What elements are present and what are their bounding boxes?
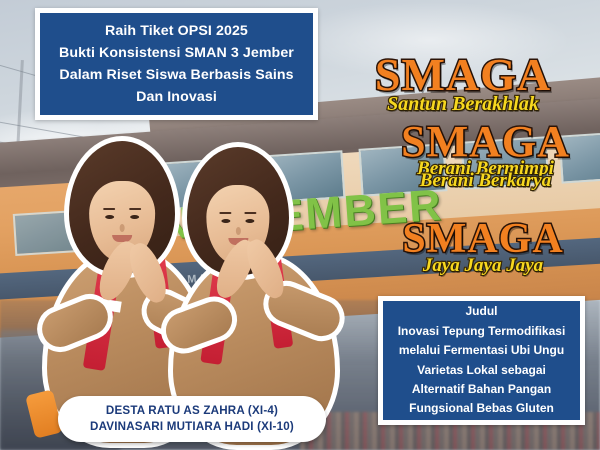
eye [245, 219, 254, 223]
slogan-tagline-1-line-1: Santun Berakhlak [333, 93, 593, 116]
student-names-pill: DESTA RATU AS ZAHRA (XI-4) DAVINASARI MU… [58, 396, 326, 442]
judul-line-2: melalui Fermentasi Ubi Ungu [398, 341, 566, 360]
mouth [112, 235, 132, 242]
eye [130, 215, 139, 219]
slogan-block-3: SMAGA Jaya Jaya Jaya [372, 215, 594, 277]
headline-line-3: Dalam Riset Siswa Berbasis Sains [59, 64, 294, 86]
judul-label: Judul [398, 302, 566, 321]
judul-text-block: Judul Inovasi Tepung Termodifikasi melal… [395, 302, 569, 419]
nose [120, 224, 125, 232]
judul-line-1: Inovasi Tepung Termodifikasi [398, 322, 566, 341]
judul-line-5: Fungsional Bebas Gluten [398, 399, 566, 418]
slogan-block-2: SMAGA Berani Bermimpi Berani Berkarya [378, 116, 593, 191]
headline-line-4: Dan Inovasi [59, 86, 294, 108]
headline-text-block: Raih Tiket OPSI 2025 Bukti Konsistensi S… [53, 20, 300, 108]
judul-line-4: Alternatif Bahan Pangan [398, 380, 566, 399]
eyebrow [244, 212, 256, 214]
slogan-tagline-2-line-2: Berani Berkarya [378, 171, 593, 191]
poster-canvas: AN 3 JEMBER SELAMAT DATANG DI [0, 0, 600, 450]
slogan-block-1: SMAGA Santun Berakhlak [333, 48, 593, 116]
judul-panel: Judul Inovasi Tepung Termodifikasi melal… [378, 296, 585, 425]
eyebrow [129, 208, 141, 210]
judul-line-3: Varietas Lokal sebagai [398, 361, 566, 380]
student-name-1: DESTA RATU AS ZAHRA (XI-4) [90, 403, 294, 419]
headline-line-2: Bukti Konsistensi SMAN 3 Jember [59, 42, 294, 64]
headline-line-1: Raih Tiket OPSI 2025 [59, 20, 294, 42]
student-names-block: DESTA RATU AS ZAHRA (XI-4) DAVINASARI MU… [90, 403, 294, 435]
eye [222, 219, 231, 223]
eyebrow [220, 212, 232, 214]
eye [105, 215, 114, 219]
nose [235, 227, 240, 235]
headline-panel: Raih Tiket OPSI 2025 Bukti Konsistensi S… [35, 8, 318, 120]
student-name-2: DAVINASARI MUTIARA HADI (XI-10) [90, 419, 294, 435]
eyebrow [103, 208, 115, 210]
